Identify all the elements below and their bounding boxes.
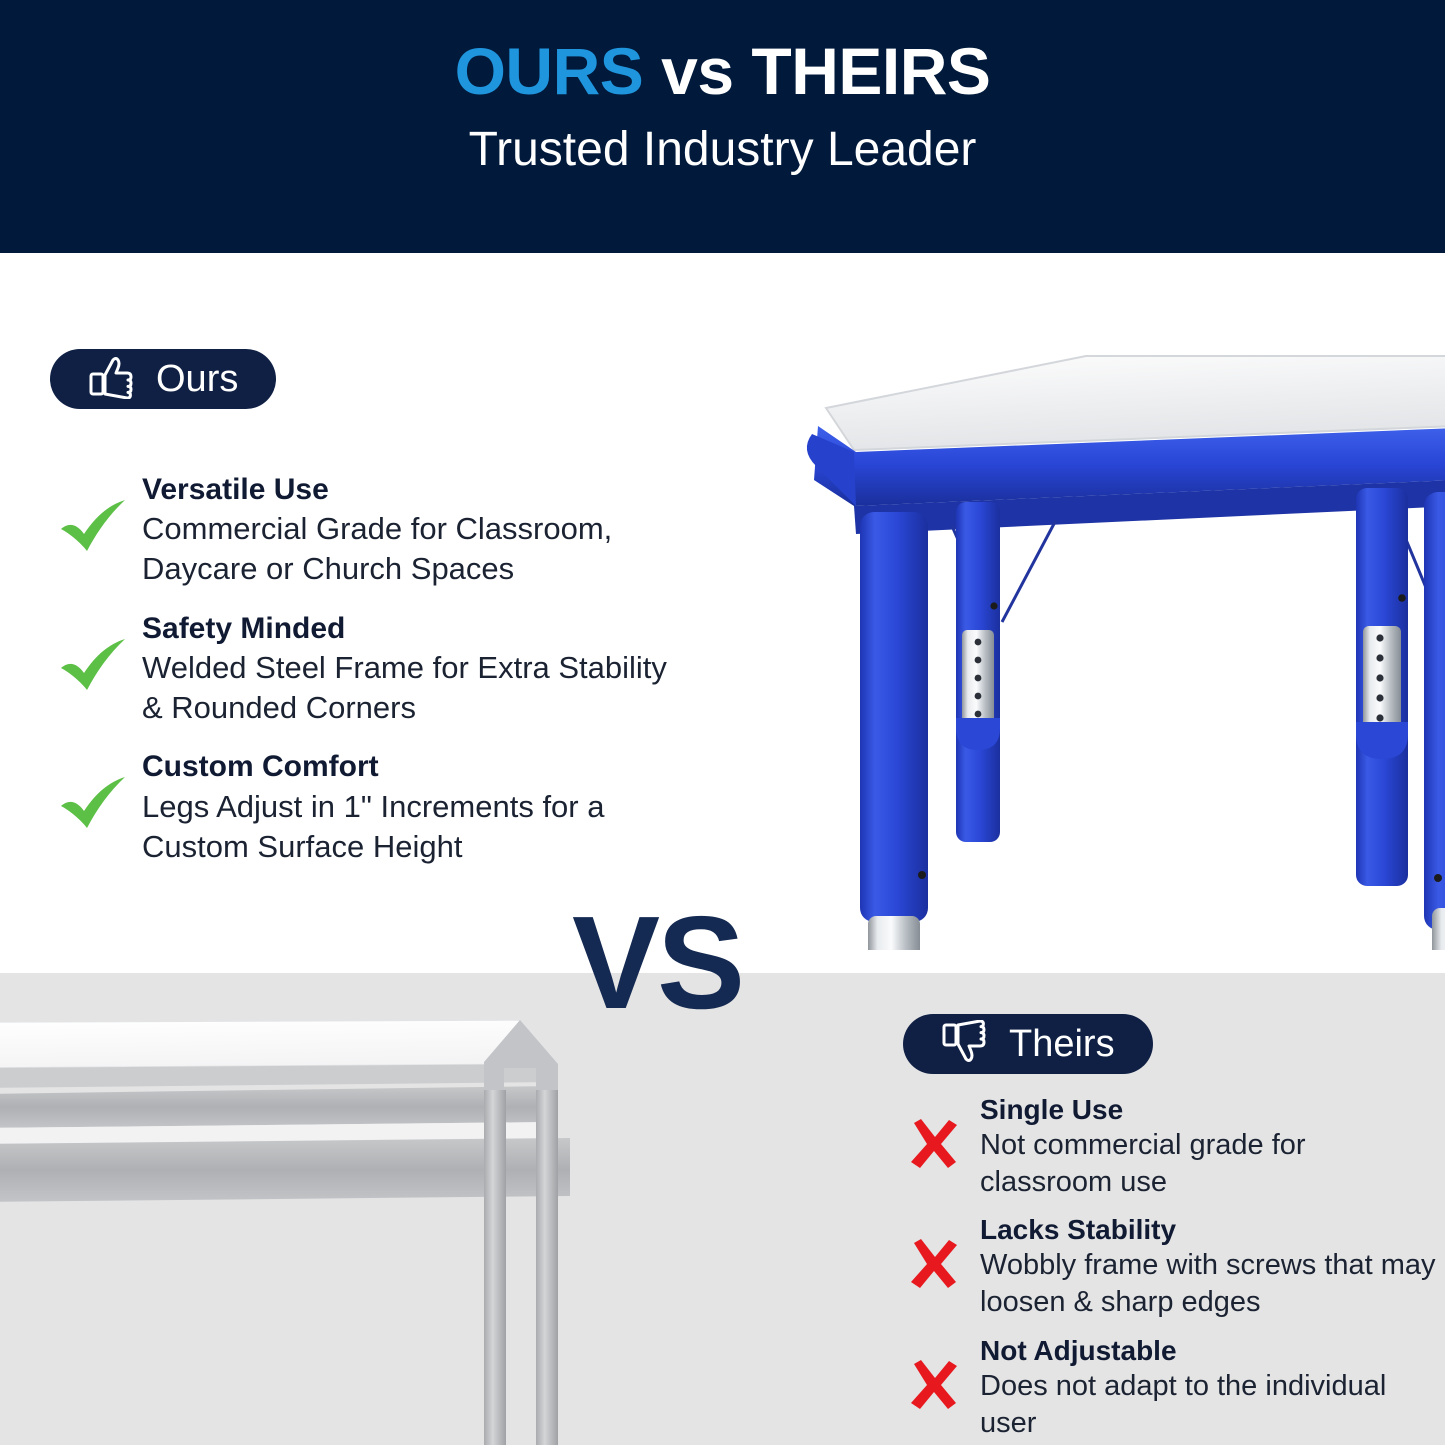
page-subtitle: Trusted Industry Leader (469, 126, 977, 174)
theirs-table-edge (0, 1064, 558, 1088)
table-leg-back-left (956, 502, 1000, 842)
header-banner: OURS vs THEIRS Trusted Industry Leader (0, 0, 1445, 253)
thumbs-up-icon (88, 355, 134, 404)
list-item-title: Versatile Use (142, 472, 686, 507)
green-check-icon (46, 611, 142, 695)
vs-divider-label: VS (572, 897, 742, 1029)
list-item-title: Custom Comfort (142, 749, 686, 784)
red-x-icon (888, 1334, 980, 1412)
theirs-table-top (0, 1020, 558, 1068)
list-item: Custom Comfort Legs Adjust in 1" Increme… (46, 749, 686, 866)
list-item-body: Wobbly frame with screws that may loosen… (980, 1247, 1445, 1321)
list-item-title: Lacks Stability (980, 1213, 1445, 1246)
list-item: Single Use Not commercial grade for clas… (888, 1093, 1445, 1201)
list-item-body: Legs Adjust in 1" Increments for a Custo… (142, 787, 686, 866)
title-theirs: THEIRS (751, 34, 990, 108)
theirs-product-image (0, 1010, 600, 1445)
title-ours: OURS (455, 34, 644, 108)
ours-badge[interactable]: Ours (50, 349, 276, 409)
table-leg-front-left (860, 512, 928, 950)
thumbs-down-icon (941, 1020, 987, 1069)
theirs-drawback-list: Single Use Not commercial grade for clas… (888, 1093, 1445, 1445)
list-item-body: Does not adapt to the individual user (980, 1368, 1445, 1442)
list-item: Safety Minded Welded Steel Frame for Ext… (46, 611, 686, 728)
list-item-title: Single Use (980, 1093, 1445, 1126)
theirs-badge-label: Theirs (1009, 1025, 1115, 1063)
table-leg-back-right (1424, 492, 1445, 950)
ours-product-image (756, 330, 1445, 950)
comparison-infographic: OURS vs THEIRS Trusted Industry Leader (0, 0, 1445, 1445)
list-item: Not Adjustable Does not adapt to the ind… (888, 1334, 1445, 1442)
list-item: Lacks Stability Wobbly frame with screws… (888, 1213, 1445, 1321)
theirs-leg-front-right (536, 1088, 558, 1445)
red-x-icon (888, 1093, 980, 1171)
title-vs: vs (643, 34, 751, 108)
list-item-title: Not Adjustable (980, 1334, 1445, 1367)
theirs-leg-rear-right (484, 1090, 506, 1445)
table-leg-front-right (1356, 488, 1408, 886)
green-check-icon (46, 749, 142, 833)
ours-badge-label: Ours (156, 360, 238, 398)
list-item-body: Commercial Grade for Classroom, Daycare … (142, 509, 686, 588)
theirs-upper-rail (0, 1086, 550, 1128)
ours-benefit-list: Versatile Use Commercial Grade for Class… (46, 472, 686, 888)
list-item-title: Safety Minded (142, 611, 686, 646)
list-item: Versatile Use Commercial Grade for Class… (46, 472, 686, 589)
list-item-body: Welded Steel Frame for Extra Stability &… (142, 648, 686, 727)
list-item-body: Not commercial grade for classroom use (980, 1127, 1445, 1201)
red-x-icon (888, 1213, 980, 1291)
theirs-badge[interactable]: Theirs (903, 1014, 1153, 1074)
green-check-icon (46, 472, 142, 556)
page-title: OURS vs THEIRS (455, 38, 991, 104)
